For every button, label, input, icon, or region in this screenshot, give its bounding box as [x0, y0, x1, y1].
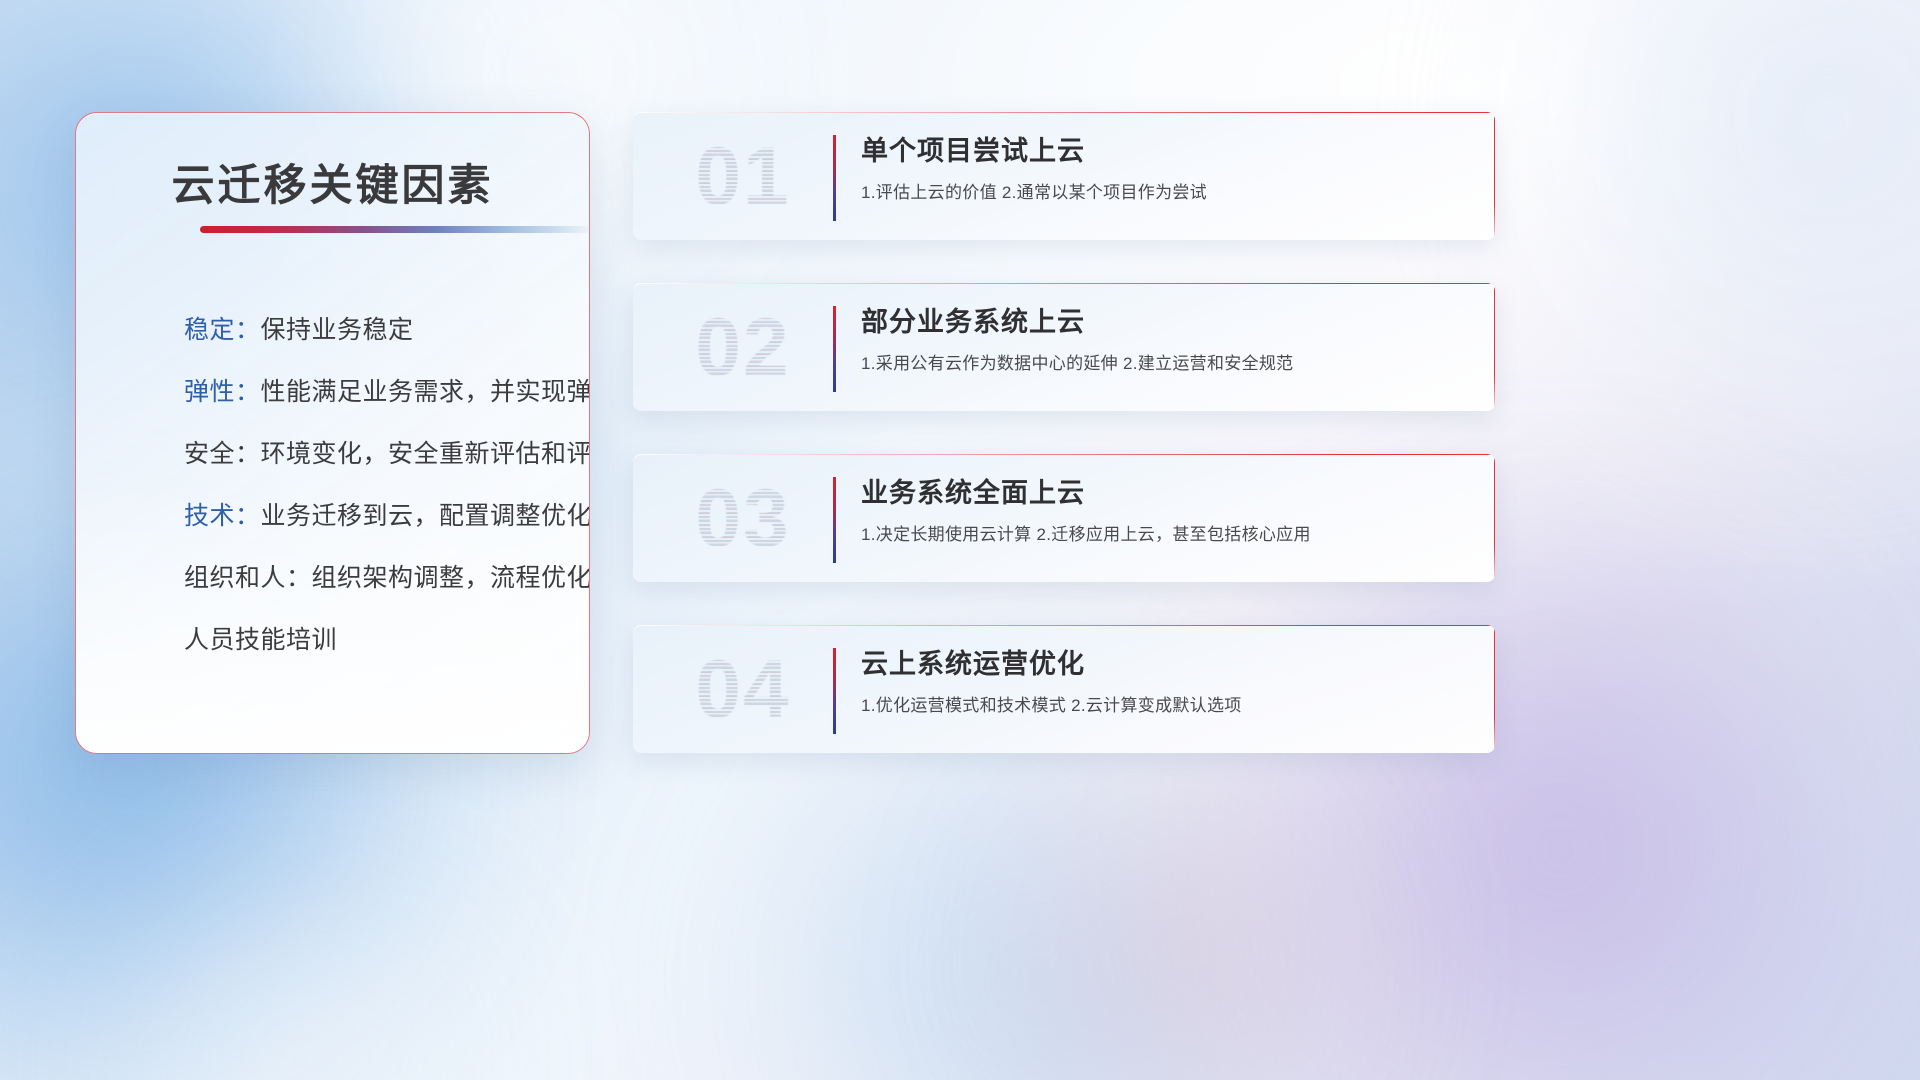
stage-card-02[interactable]: 02 02 部分业务系统上云 1.采用公有云作为数据中心的延伸 2.建立运营和安…	[633, 283, 1495, 411]
card-detail-04: 1.优化运营模式和技术模式 2.云计算变成默认选项	[861, 696, 1465, 716]
card-top-accent-04	[633, 625, 1495, 626]
stage-card-03[interactable]: 03 03 业务系统全面上云 1.决定长期使用云计算 2.迁移应用上云，甚至包括…	[633, 454, 1495, 582]
card-right-accent-01	[1494, 112, 1495, 240]
card-body-04: 云上系统运营优化 1.优化运营模式和技术模式 2.云计算变成默认选项	[861, 649, 1465, 716]
factor-item-organization-cont: 人员技能培训	[184, 628, 565, 653]
factor-text-technology: 业务迁移到云，配置调整优化	[261, 502, 590, 530]
card-title-02: 部分业务系统上云	[861, 307, 1465, 338]
factor-label-elasticity: 弹性：	[184, 378, 261, 406]
stage-number-glow-03: 03	[659, 472, 827, 566]
factor-list: 稳定：保持业务稳定 弹性：性能满足业务需求，并实现弹性 安全：环境变化，安全重新…	[184, 318, 565, 653]
stage-card-04[interactable]: 04 04 云上系统运营优化 1.优化运营模式和技术模式 2.云计算变成默认选项	[633, 625, 1495, 753]
card-detail-02: 1.采用公有云作为数据中心的延伸 2.建立运营和安全规范	[861, 354, 1465, 374]
card-title-03: 业务系统全面上云	[861, 478, 1465, 509]
card-top-accent-03	[633, 454, 1495, 455]
title-underline	[200, 226, 590, 233]
factor-label-stability: 稳定：	[184, 316, 261, 344]
factor-label-security: 安全：	[184, 440, 261, 468]
card-title-01: 单个项目尝试上云	[861, 136, 1465, 167]
factor-item-technology: 技术：业务迁移到云，配置调整优化	[184, 504, 565, 529]
card-divider-02	[833, 306, 836, 392]
card-body-02: 部分业务系统上云 1.采用公有云作为数据中心的延伸 2.建立运营和安全规范	[861, 307, 1465, 374]
card-right-accent-02	[1494, 283, 1495, 411]
card-title-04: 云上系统运营优化	[861, 649, 1465, 680]
card-body-03: 业务系统全面上云 1.决定长期使用云计算 2.迁移应用上云，甚至包括核心应用	[861, 478, 1465, 545]
factor-text-security: 环境变化，安全重新评估和评审	[261, 440, 590, 468]
factor-item-organization: 组织和人：组织架构调整，流程优化，	[184, 566, 565, 591]
factor-item-elasticity: 弹性：性能满足业务需求，并实现弹性	[184, 380, 565, 405]
card-divider-01	[833, 135, 836, 221]
card-detail-03: 1.决定长期使用云计算 2.迁移应用上云，甚至包括核心应用	[861, 525, 1465, 545]
stage-number-glow-04: 04	[659, 643, 827, 737]
card-body-01: 单个项目尝试上云 1.评估上云的价值 2.通常以某个项目作为尝试	[861, 136, 1465, 203]
factor-text-organization-cont: 人员技能培训	[184, 626, 337, 654]
factor-item-security: 安全：环境变化，安全重新评估和评审	[184, 442, 565, 467]
card-divider-03	[833, 477, 836, 563]
stage-number-glow-02: 02	[659, 301, 827, 395]
card-top-accent-02	[633, 283, 1495, 284]
factor-label-technology: 技术：	[184, 502, 261, 530]
card-divider-04	[833, 648, 836, 734]
stage-card-01[interactable]: 01 01 单个项目尝试上云 1.评估上云的价值 2.通常以某个项目作为尝试	[633, 112, 1495, 240]
card-right-accent-04	[1494, 625, 1495, 753]
factor-text-organization: 组织架构调整，流程优化，	[312, 564, 590, 592]
factor-text-elasticity: 性能满足业务需求，并实现弹性	[261, 378, 590, 406]
factor-item-stability: 稳定：保持业务稳定	[184, 318, 565, 343]
key-factors-panel: 云迁移关键因素 稳定：保持业务稳定 弹性：性能满足业务需求，并实现弹性 安全：环…	[75, 112, 590, 754]
stage-card-list: 01 01 单个项目尝试上云 1.评估上云的价值 2.通常以某个项目作为尝试 0…	[633, 112, 1495, 753]
page-title: 云迁移关键因素	[76, 151, 589, 213]
factor-label-organization: 组织和人：	[184, 564, 312, 592]
factor-text-stability: 保持业务稳定	[261, 316, 414, 344]
card-detail-01: 1.评估上云的价值 2.通常以某个项目作为尝试	[861, 183, 1465, 203]
card-right-accent-03	[1494, 454, 1495, 582]
card-top-accent-01	[633, 112, 1495, 113]
stage-number-glow-01: 01	[659, 130, 827, 224]
